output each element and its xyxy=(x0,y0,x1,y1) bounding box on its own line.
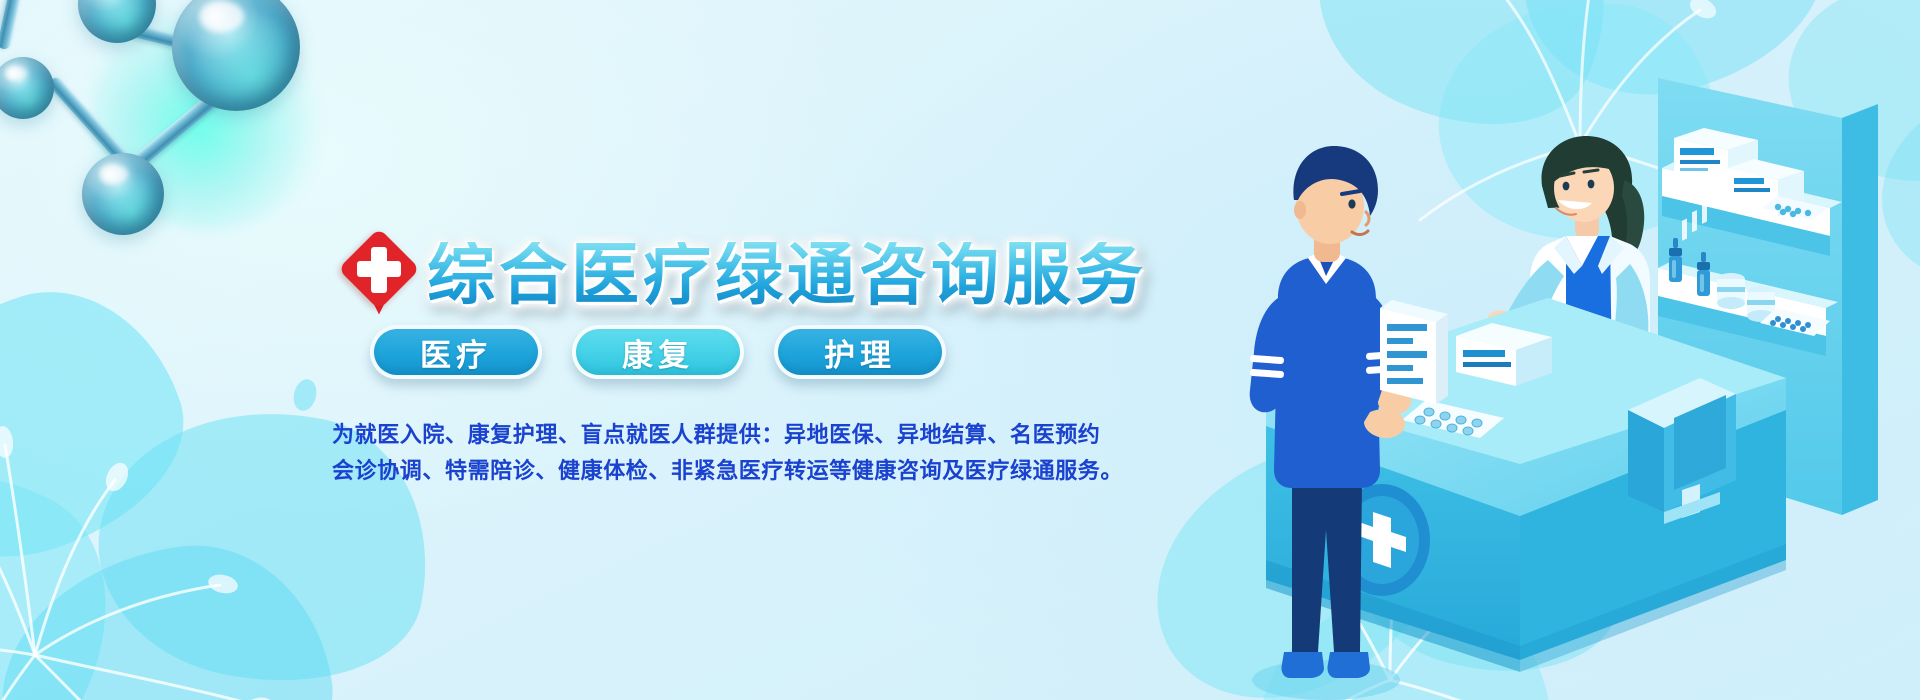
logo-cross-horizontal xyxy=(357,261,401,277)
service-tag-list: 医疗 康复 护理 xyxy=(370,325,946,379)
prescription-paper xyxy=(1380,300,1448,404)
pharmacy-counter-illustration xyxy=(1230,60,1920,700)
medicine-jar xyxy=(1717,273,1745,309)
service-tag-label: 康复 xyxy=(622,330,694,375)
service-tag-label: 医疗 xyxy=(420,330,492,375)
petal xyxy=(0,416,158,700)
petal xyxy=(0,528,346,700)
description-block: 为就医入院、康复护理、盲点就医人群提供：异地医保、异地结算、名医预约 会诊协调、… xyxy=(332,418,1032,489)
healthcare-banner: 综合医疗绿通咨询服务 医疗 康复 护理 为就医入院、康复护理、盲点就医人群提供：… xyxy=(0,0,1920,700)
molecule-graphic xyxy=(0,0,300,255)
service-tag-nursing[interactable]: 护理 xyxy=(774,325,946,379)
medical-cross-icon xyxy=(345,233,413,319)
service-tag-rehabilitation[interactable]: 康复 xyxy=(572,325,744,379)
service-tag-medical[interactable]: 医疗 xyxy=(370,325,542,379)
description-line-2: 会诊协调、特需陪诊、健康体检、非紧急医疗转运等健康咨询及医疗绿通服务。 xyxy=(332,454,1032,490)
molecule-atom xyxy=(82,153,164,235)
petal xyxy=(0,260,211,590)
page-title: 综合医疗绿通咨询服务 xyxy=(427,242,1147,310)
molecule-bond xyxy=(0,0,34,50)
service-tag-label: 护理 xyxy=(824,330,896,375)
description-line-1: 为就医入院、康复护理、盲点就医人群提供：异地医保、异地结算、名医预约 xyxy=(332,418,1032,454)
molecule-atom xyxy=(0,57,54,119)
